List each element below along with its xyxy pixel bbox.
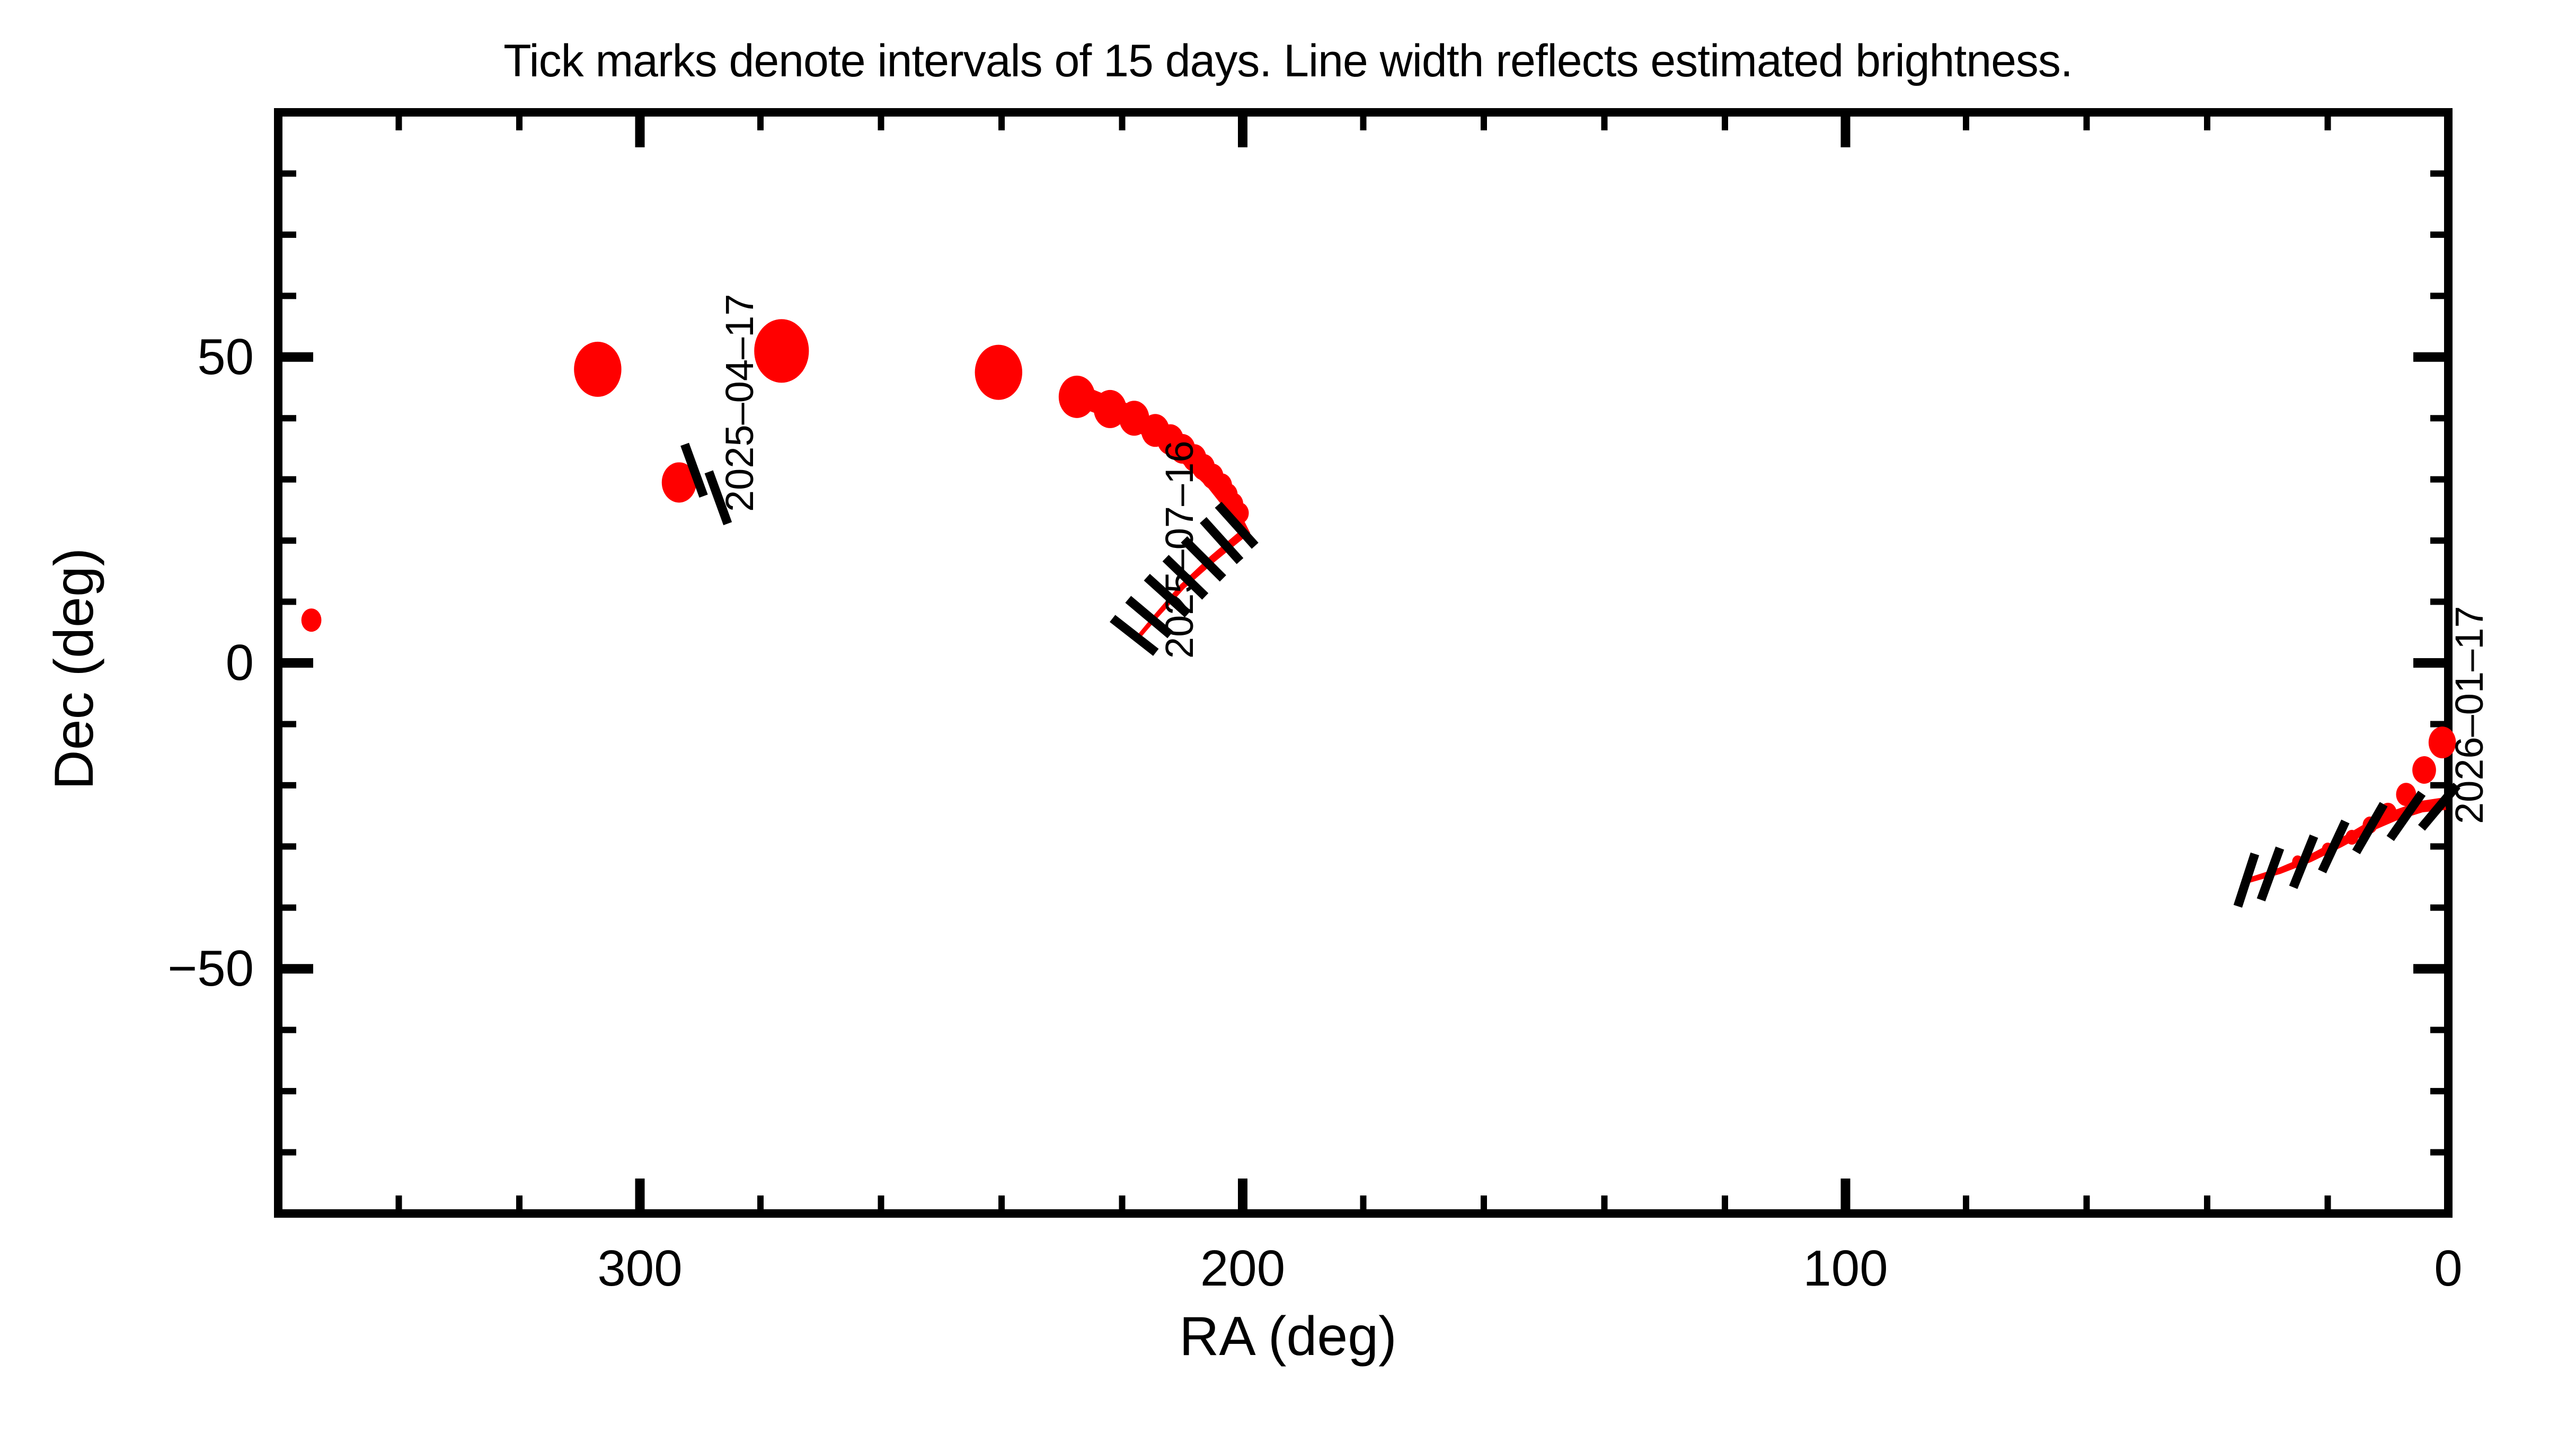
date-2025-07-16: 2025–07–16 (1160, 441, 1199, 659)
x-axis-ticks (399, 112, 2328, 1213)
fifteen-day-tick-marks (685, 444, 2457, 906)
y-tick-label: −50 (167, 943, 254, 994)
y-tick-label: 50 (197, 332, 254, 383)
track-lines (1070, 383, 2446, 882)
sky-track-figure: Tick marks denote intervals of 15 days. … (0, 0, 2576, 1435)
x-axis-title: RA (deg) (0, 1309, 2576, 1364)
date-2026-01-17: 2026–01–17 (2450, 606, 2489, 824)
x-tick-label: 100 (1803, 1243, 1888, 1294)
x-tick-label: 200 (1200, 1243, 1285, 1294)
plot-canvas (0, 0, 2576, 1435)
y-tick-label: 0 (226, 637, 254, 688)
plot-frame (278, 112, 2448, 1213)
y-axis-ticks (278, 173, 2448, 1152)
date-2025-04-17: 2025–04–17 (720, 294, 759, 512)
x-tick-label: 0 (2434, 1243, 2462, 1294)
position-markers (302, 319, 2456, 868)
y-axis-title: Dec (deg) (47, 298, 102, 1040)
x-tick-label: 300 (597, 1243, 682, 1294)
